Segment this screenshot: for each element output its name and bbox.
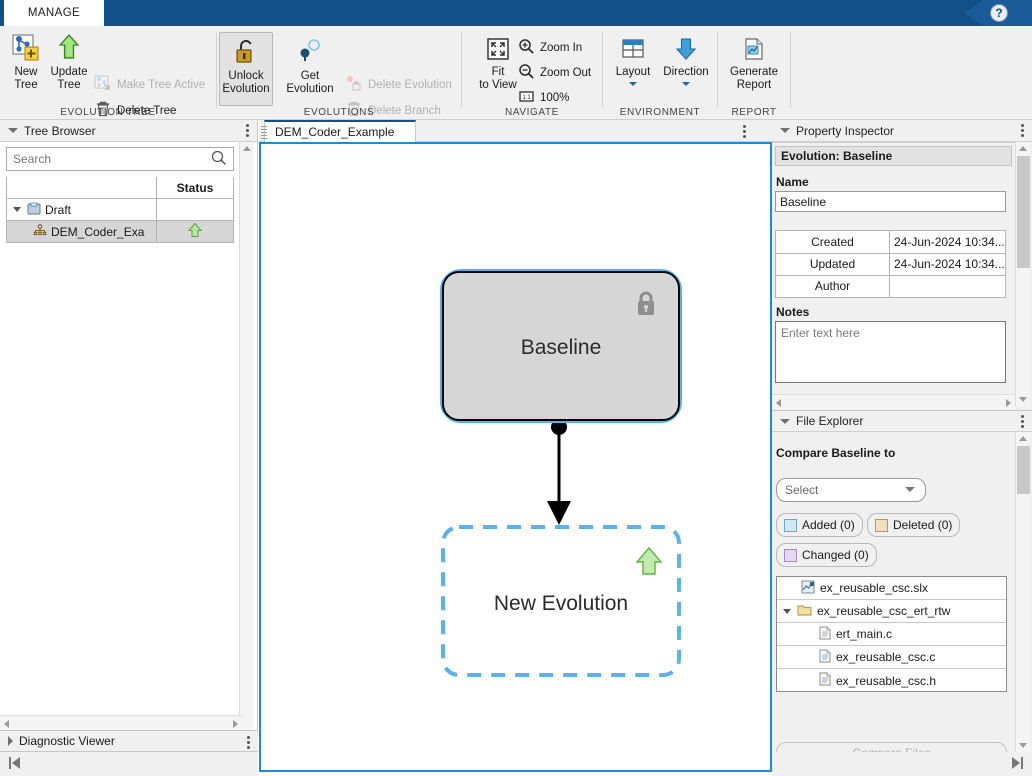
tree-row-draft-label: Draft: [45, 203, 71, 217]
help-wedge-shape: [964, 0, 984, 26]
evolution-graph-canvas[interactable]: Baseline New Evolution: [259, 142, 772, 772]
make-tree-active-button[interactable]: Make Tree Active: [94, 74, 205, 95]
help-question-icon[interactable]: ?: [990, 4, 1008, 22]
graph-node-baseline-label: Baseline: [521, 336, 602, 359]
tree-row-draft-status: [156, 199, 234, 221]
table-row[interactable]: Draft: [6, 199, 234, 221]
property-value-author: [889, 275, 1006, 298]
table-header-status: Status: [156, 177, 234, 199]
ribbon-group-evolution-tree: New Tree Update Tree: [0, 26, 216, 120]
fit-to-view-label-line2: to View: [479, 79, 517, 92]
tab-manage-label: MANAGE: [28, 7, 80, 19]
name-field-label: Name: [776, 175, 809, 189]
property-inspector-title: Property Inspector: [796, 124, 894, 138]
notes-textarea[interactable]: Enter text here: [775, 321, 1006, 383]
tree-browser-vertical-scrollbar[interactable]: [239, 142, 254, 776]
scroll-down-arrow-icon[interactable]: [1019, 743, 1027, 748]
c-file-icon: [819, 649, 831, 666]
name-field[interactable]: Baseline: [775, 191, 1006, 212]
scroll-thumb[interactable]: [1017, 446, 1030, 494]
scroll-left-arrow-icon[interactable]: [776, 399, 781, 407]
ribbon-group-report-label: REPORT: [718, 107, 790, 118]
property-inspector-menu-icon[interactable]: [1021, 124, 1024, 137]
unlock-evolution-button[interactable]: Unlock Evolution: [220, 38, 272, 96]
name-field-value: Baseline: [780, 195, 826, 209]
changed-color-swatch: [784, 549, 797, 562]
ribbon-group-navigate-label: NAVIGATE: [462, 107, 602, 118]
c-file-icon: [819, 672, 831, 689]
ribbon-group-evolutions: Unlock Evolution Get Evolution: [217, 26, 461, 120]
table-row[interactable]: Created 24-Jun-2024 10:34...: [775, 230, 1006, 253]
file-name: ex_reusable_csc.slx: [820, 581, 928, 595]
title-bar: MANAGE ?: [0, 0, 1032, 26]
property-value-created: 24-Jun-2024 10:34...: [889, 230, 1006, 253]
table-row[interactable]: Author: [775, 275, 1006, 298]
generate-report-label-line1: Generate: [730, 66, 778, 79]
unlock-icon: [232, 38, 260, 70]
new-tree-label-line1: New: [14, 66, 37, 79]
scroll-right-arrow-icon[interactable]: [1006, 399, 1011, 407]
scroll-left-arrow-icon[interactable]: [4, 720, 9, 728]
property-inspector-header: Property Inspector: [772, 120, 1032, 142]
up-arrow-green-icon: [187, 222, 203, 241]
table-header-row: Status: [6, 177, 234, 199]
generate-report-icon: [741, 36, 767, 66]
ribbon-toolbar: New Tree Update Tree: [0, 26, 1032, 120]
zoom-in-icon: [518, 38, 535, 58]
tab-grip-icon[interactable]: [261, 126, 267, 140]
scroll-right-arrow-icon[interactable]: [233, 720, 238, 728]
zoom-out-label: Zoom Out: [540, 67, 591, 79]
new-tree-button[interactable]: New Tree: [6, 32, 46, 92]
document-tab-bar: DEM_Coder_Example: [259, 120, 772, 142]
ribbon-group-evolutions-label: EVOLUTIONS: [217, 107, 461, 118]
expand-triangle-icon[interactable]: [13, 207, 21, 212]
table-header-blank: [6, 177, 156, 199]
graph-node-new-evolution-label: New Evolution: [494, 592, 628, 615]
help-button[interactable]: ?: [964, 0, 1032, 26]
actual-size-label: 100%: [540, 92, 569, 104]
filter-deleted-label: Deleted (0): [893, 518, 952, 532]
document-tab-menu-icon[interactable]: [743, 125, 746, 138]
scroll-down-arrow-icon[interactable]: [1019, 397, 1027, 402]
collapse-triangle-icon[interactable]: [780, 419, 790, 424]
compare-label: Compare Baseline to: [776, 446, 895, 460]
added-color-swatch: [784, 519, 797, 532]
get-evolution-label-line1: Get: [301, 70, 320, 83]
property-inspector-horizontal-scrollbar[interactable]: [772, 394, 1015, 409]
property-key-created: Created: [775, 230, 889, 253]
collapse-left-panel-icon[interactable]: [8, 756, 22, 773]
compare-target-select-value: Select: [785, 483, 818, 497]
collapse-right-panel-icon[interactable]: [1010, 756, 1024, 773]
application-window: MANAGE ?: [0, 0, 1032, 776]
graph-node-new-evolution: New Evolution: [443, 527, 679, 675]
tree-browser-menu-icon[interactable]: [246, 124, 249, 137]
update-tree-icon: [54, 32, 84, 66]
tree-row-dem-coder-label: DEM_Coder_Exa: [51, 225, 144, 239]
diagnostic-viewer-title: Diagnostic Viewer: [19, 734, 115, 748]
filter-added-button[interactable]: Added (0): [776, 513, 863, 537]
ribbon-group-report: Generate Report REPORT: [718, 26, 790, 120]
update-tree-button[interactable]: Update Tree: [47, 32, 91, 92]
tree-browser-panel: Tree Browser Search Status: [0, 120, 258, 730]
zoom-in-label: Zoom In: [540, 42, 582, 54]
fit-to-view-button[interactable]: Fit to View: [472, 36, 524, 92]
file-name: ex_reusable_csc.h: [836, 674, 936, 688]
unlock-evolution-label-line1: Unlock: [228, 70, 263, 83]
get-evolution-button[interactable]: Get Evolution: [279, 38, 341, 96]
filter-changed-label: Changed (0): [802, 548, 869, 562]
delete-evolution-icon: [345, 74, 363, 95]
property-grid: Created 24-Jun-2024 10:34... Updated 24-…: [775, 230, 1006, 298]
right-panel: Property Inspector Evolution: Baseline N…: [772, 120, 1032, 776]
file-explorer-header: File Explorer: [772, 410, 1032, 432]
tree-row-dem-coder[interactable]: DEM_Coder_Exa: [6, 221, 156, 243]
simulink-file-icon: [801, 580, 815, 597]
ribbon-separator-5: [790, 32, 791, 108]
folder-icon: [797, 603, 812, 619]
layout-icon: [620, 36, 646, 66]
search-icon[interactable]: [211, 150, 227, 169]
list-item[interactable]: ex_reusable_csc.slx: [777, 577, 1006, 600]
chevron-down-icon[interactable]: [905, 487, 915, 492]
ribbon-group-evolution-tree-label: EVOLUTION TREE: [0, 107, 216, 118]
make-tree-active-icon: [94, 74, 112, 95]
status-bar-left: [0, 752, 258, 776]
list-item[interactable]: ex_reusable_csc.h: [777, 669, 1006, 692]
tree-browser-header: Tree Browser: [0, 120, 257, 142]
fit-to-view-icon: [485, 36, 511, 66]
direction-label: Direction: [663, 66, 708, 79]
deleted-color-swatch: [875, 519, 888, 532]
scroll-up-arrow-icon[interactable]: [1019, 146, 1027, 151]
unlock-evolution-label-line2: Evolution: [222, 83, 269, 96]
tree-browser-title: Tree Browser: [24, 124, 96, 138]
make-tree-active-label: Make Tree Active: [117, 79, 205, 91]
filter-deleted-button[interactable]: Deleted (0): [867, 513, 960, 537]
zoom-out-icon: [518, 63, 535, 83]
document-tab-dem-coder-example[interactable]: DEM_Coder_Example: [264, 120, 416, 142]
ribbon-group-environment: Layout Direction ENVIRONMENT: [603, 26, 717, 120]
actual-size-icon: 1:1: [518, 88, 535, 108]
collapse-triangle-icon[interactable]: [780, 128, 790, 133]
tree-row-dem-coder-status: [156, 221, 234, 243]
notes-label: Notes: [776, 305, 809, 319]
tree-row-draft[interactable]: Draft: [6, 199, 156, 221]
file-explorer-title: File Explorer: [796, 414, 863, 428]
table-row[interactable]: Updated 24-Jun-2024 10:34...: [775, 253, 1006, 276]
file-explorer-vertical-scrollbar[interactable]: [1015, 432, 1030, 752]
zoom-out-button[interactable]: Zoom Out: [518, 63, 591, 83]
tree-node-icon: [33, 224, 47, 240]
update-tree-label-line1: Update: [50, 66, 87, 79]
get-evolution-icon: [296, 38, 324, 70]
delete-evolution-button[interactable]: Delete Evolution: [345, 74, 452, 95]
new-tree-label-line2: Tree: [14, 79, 37, 92]
diagnostic-viewer-menu-icon[interactable]: [247, 736, 250, 749]
graph-edge-baseline-to-new-evolution: [547, 419, 571, 525]
scroll-up-arrow-icon[interactable]: [1019, 436, 1027, 441]
delete-evolution-label: Delete Evolution: [368, 79, 452, 91]
direction-button[interactable]: Direction: [659, 36, 713, 86]
folder-name: ex_reusable_csc_ert_rtw: [817, 604, 950, 618]
chevron-down-icon[interactable]: [682, 82, 690, 86]
property-inspector-section-title: Evolution: Baseline: [775, 146, 1012, 166]
graph-node-baseline: Baseline: [443, 272, 679, 420]
ribbon-group-navigate: Fit to View Zoom In: [462, 26, 602, 120]
get-evolution-label-line2: Evolution: [286, 83, 333, 96]
generate-report-label-line2: Report: [737, 79, 772, 92]
property-inspector-body: Evolution: Baseline Name Baseline Create…: [772, 142, 1015, 427]
list-item[interactable]: ex_reusable_csc.c: [777, 646, 1006, 669]
expand-triangle-icon[interactable]: [8, 736, 13, 746]
direction-down-icon: [673, 36, 699, 66]
file-name: ex_reusable_csc.c: [836, 650, 935, 664]
file-tree[interactable]: ex_reusable_csc.slx ex_reusable_csc_ert_…: [776, 576, 1007, 692]
ribbon-group-environment-label: ENVIRONMENT: [603, 107, 717, 118]
new-tree-icon: [11, 32, 41, 66]
table-row[interactable]: DEM_Coder_Exa: [6, 221, 234, 243]
layout-button[interactable]: Layout: [609, 36, 657, 86]
compare-target-select[interactable]: Select: [776, 478, 926, 502]
c-file-icon: [819, 626, 831, 643]
svg-text:1:1: 1:1: [522, 95, 531, 101]
update-tree-label-line2: Tree: [57, 79, 80, 92]
property-key-updated: Updated: [775, 253, 889, 276]
status-bar-right: [772, 752, 1032, 776]
generate-report-button[interactable]: Generate Report: [725, 36, 783, 92]
search-input[interactable]: Search: [6, 147, 234, 171]
document-tab-label: DEM_Coder_Example: [275, 125, 394, 139]
zoom-in-button[interactable]: Zoom In: [518, 38, 582, 58]
list-item[interactable]: ex_reusable_csc_ert_rtw: [777, 600, 1006, 623]
search-input-placeholder: Search: [13, 152, 211, 166]
filter-changed-button[interactable]: Changed (0): [776, 543, 877, 567]
fit-to-view-label-line1: Fit: [492, 66, 505, 79]
collapse-triangle-icon[interactable]: [8, 128, 18, 133]
notes-placeholder: Enter text here: [781, 326, 860, 340]
scroll-up-arrow-icon[interactable]: [243, 146, 251, 151]
scroll-thumb[interactable]: [1017, 156, 1030, 268]
file-explorer-body: Compare Baseline to Select Added (0) Del…: [772, 432, 1015, 752]
diagnostic-viewer-header[interactable]: Diagnostic Viewer: [0, 730, 258, 752]
property-inspector-vertical-scrollbar[interactable]: [1015, 142, 1030, 406]
folder-icon: [27, 202, 41, 218]
layout-label: Layout: [616, 66, 651, 79]
file-explorer-menu-icon[interactable]: [1021, 415, 1024, 428]
chevron-down-icon[interactable]: [629, 82, 637, 86]
list-item[interactable]: ert_main.c: [777, 623, 1006, 646]
file-name: ert_main.c: [836, 627, 892, 641]
property-key-author: Author: [775, 275, 889, 298]
tree-browser-table: Status Draft: [6, 177, 234, 243]
expand-triangle-icon[interactable]: [783, 609, 791, 614]
tree-browser-horizontal-scrollbar[interactable]: [0, 715, 242, 730]
property-value-updated: 24-Jun-2024 10:34...: [889, 253, 1006, 276]
tab-manage[interactable]: MANAGE: [4, 0, 104, 26]
actual-size-button[interactable]: 1:1 100%: [518, 88, 569, 108]
filter-added-label: Added (0): [802, 518, 855, 532]
